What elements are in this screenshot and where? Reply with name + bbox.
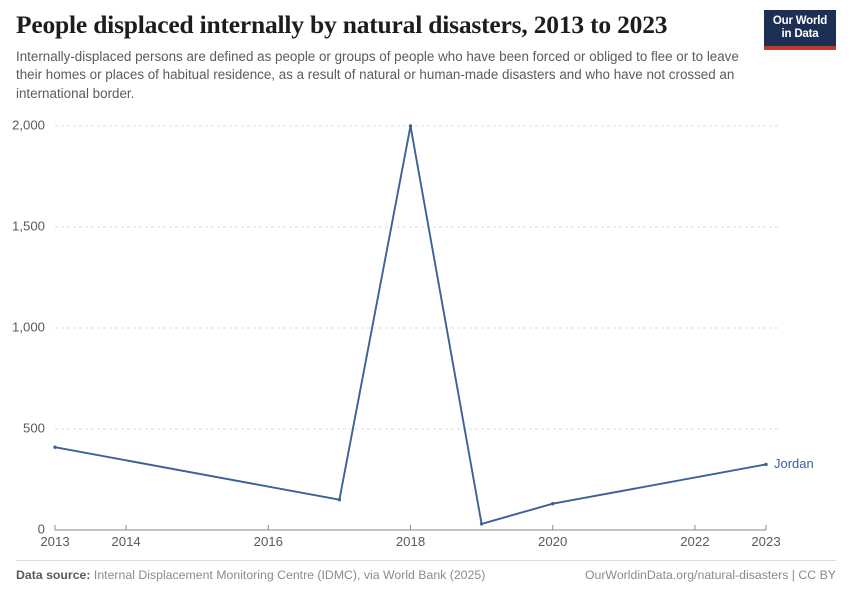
footer-link[interactable]: OurWorldinData.org/natural-disasters | C… [585, 568, 836, 582]
data-point[interactable] [551, 502, 554, 505]
data-source-text: Internal Displacement Monitoring Centre … [94, 568, 485, 582]
chart-svg: 05001,0001,5002,000 20132014201620182020… [0, 0, 850, 600]
data-point[interactable] [409, 124, 412, 127]
data-source-label: Data source: [16, 568, 91, 582]
data-point[interactable] [338, 498, 341, 501]
data-point[interactable] [480, 522, 483, 525]
data-point[interactable] [53, 446, 56, 449]
chart-gridlines [55, 126, 780, 429]
x-axis-tick-label: 2016 [254, 534, 283, 549]
y-axis-tick-label: 2,000 [12, 117, 45, 132]
data-point[interactable] [764, 463, 767, 466]
chart-x-axis: 2013201420162018202020222023 [40, 525, 780, 549]
x-axis-tick-label: 2022 [680, 534, 709, 549]
x-axis-tick-label: 2013 [40, 534, 69, 549]
x-axis-tick-label: 2014 [111, 534, 140, 549]
series-label-jordan[interactable]: Jordan [774, 456, 814, 471]
data-source: Data source: Internal Displacement Monit… [16, 568, 485, 582]
x-axis-tick-label: 2018 [396, 534, 425, 549]
x-axis-tick-label: 2023 [751, 534, 780, 549]
x-axis-tick-label: 2020 [538, 534, 567, 549]
chart-page: People displaced internally by natural d… [0, 0, 850, 600]
line-chart[interactable]: 05001,0001,5002,000 20132014201620182020… [0, 0, 850, 600]
chart-series-layer[interactable]: Jordan [53, 124, 813, 525]
y-axis-tick-label: 1,500 [12, 218, 45, 233]
series-line-jordan[interactable] [55, 126, 766, 524]
chart-y-axis: 05001,0001,5002,000 [12, 117, 45, 536]
chart-footer: Data source: Internal Displacement Monit… [16, 568, 836, 582]
footer-divider [16, 560, 836, 561]
y-axis-tick-label: 1,000 [12, 319, 45, 334]
y-axis-tick-label: 500 [23, 420, 45, 435]
